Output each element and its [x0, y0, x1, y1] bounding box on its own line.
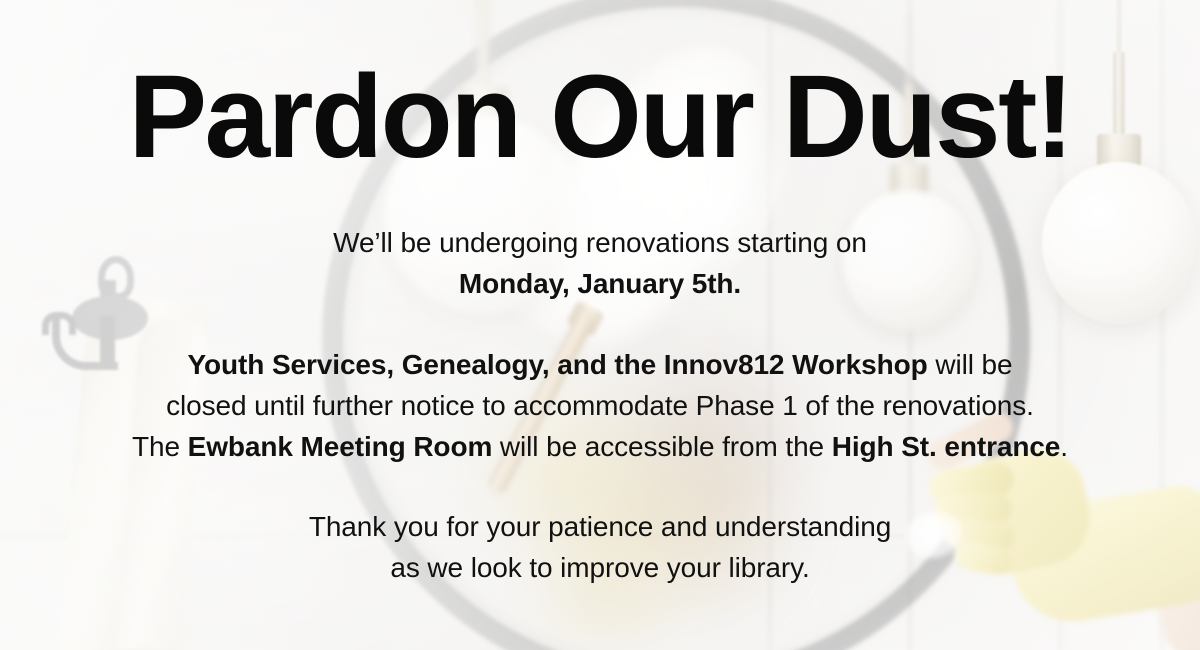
- paragraph-closures: Youth Services, Genealogy, and the Innov…: [0, 344, 1200, 467]
- text-line: We’ll be undergoing renovations starting…: [0, 222, 1200, 263]
- body-text: will be accessible from the: [492, 431, 831, 462]
- paragraph-thanks: Thank you for your patience and understa…: [0, 506, 1200, 588]
- text-line: The Ewbank Meeting Room will be accessib…: [0, 426, 1200, 467]
- text-line: Youth Services, Genealogy, and the Innov…: [0, 344, 1200, 385]
- body-text: We’ll be undergoing renovations starting…: [333, 227, 867, 258]
- pardon-our-dust-poster: Pardon Our Dust! We’ll be undergoing ren…: [0, 0, 1200, 650]
- body-text: closed until further notice to accommoda…: [166, 390, 1034, 421]
- emphasis-text: Ewbank Meeting Room: [188, 431, 493, 462]
- body-text: .: [1060, 431, 1068, 462]
- text-line: Monday, January 5th.: [0, 263, 1200, 304]
- emphasis-text: Monday, January 5th.: [459, 268, 741, 299]
- text-line: closed until further notice to accommoda…: [0, 385, 1200, 426]
- body-text: as we look to improve your library.: [390, 552, 809, 583]
- body-text: will be: [928, 349, 1013, 380]
- poster-content: Pardon Our Dust! We’ll be undergoing ren…: [0, 0, 1200, 650]
- emphasis-text: Youth Services, Genealogy, and the Innov…: [188, 349, 928, 380]
- paragraph-renovation-start: We’ll be undergoing renovations starting…: [0, 222, 1200, 304]
- page-title: Pardon Our Dust!: [0, 58, 1200, 176]
- text-line: Thank you for your patience and understa…: [0, 506, 1200, 547]
- text-line: as we look to improve your library.: [0, 547, 1200, 588]
- emphasis-text: High St. entrance: [832, 431, 1061, 462]
- body-text: The: [132, 431, 188, 462]
- body-text: Thank you for your patience and understa…: [309, 511, 891, 542]
